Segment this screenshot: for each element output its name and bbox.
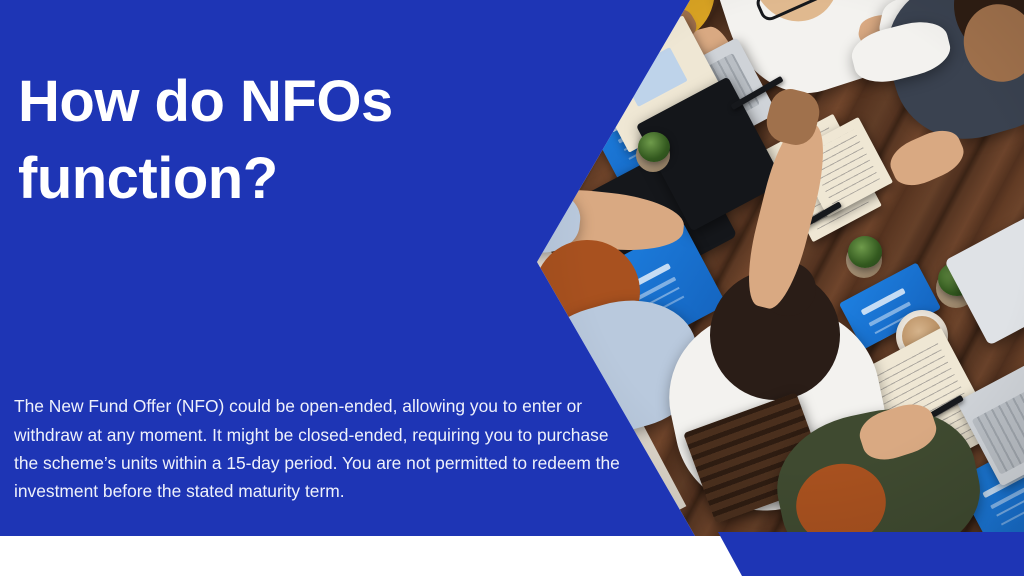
slide: How do NFOs function? The New Fund Offer… [0,0,1024,576]
plant-right [848,236,882,268]
plant-centre [638,132,670,162]
page-title: How do NFOs function? [18,63,488,217]
bottom-right-blue-accent [700,532,1024,576]
body-paragraph: The New Fund Offer (NFO) could be open-e… [14,392,626,505]
